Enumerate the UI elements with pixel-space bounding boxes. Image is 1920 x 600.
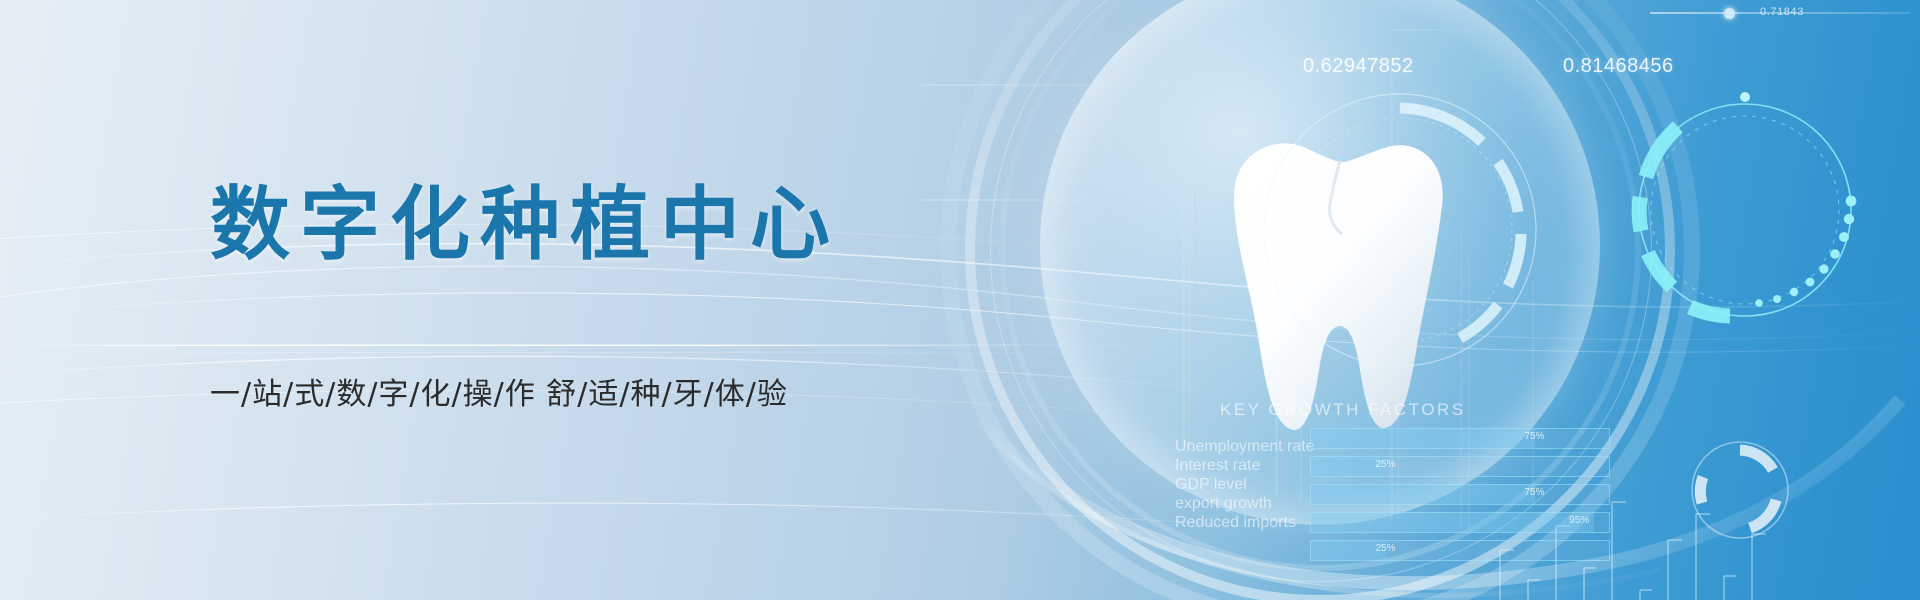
metric-left: 0.62947852: [1303, 55, 1414, 78]
page-title: 数字化种植中心: [210, 185, 970, 265]
progress-bar: 95%: [1310, 512, 1610, 533]
tech-graphic-panel: 0.62947852 0.81468456 0.71843 KEY GROWTH…: [920, 0, 1920, 600]
progress-label: 75%: [1524, 431, 1544, 442]
progress-bar: 75%: [1310, 428, 1610, 449]
progress-label: 25%: [1375, 459, 1395, 470]
metric-right: 0.81468456: [1563, 55, 1674, 78]
hud-slider[interactable]: 0.71843: [1650, 8, 1910, 18]
progress-label: 25%: [1375, 543, 1395, 554]
key-growth-factors-label: KEY GROWTH FACTORS: [1220, 400, 1466, 420]
progress-bar: 25%: [1310, 456, 1610, 477]
progress-label: 75%: [1524, 487, 1544, 498]
title-divider: [0, 345, 1030, 346]
progress-fill: [1311, 513, 1594, 532]
progress-fill: [1311, 429, 1535, 448]
progress-fill: [1311, 457, 1386, 476]
scan-ring-icon: [1250, 80, 1550, 380]
progress-bar: 25%: [1310, 540, 1610, 561]
growth-factor-bars: 75% 25% 75% 95% 25%: [1310, 428, 1610, 568]
slider-knob[interactable]: [1724, 8, 1735, 19]
slider-value: 0.71843: [1760, 6, 1804, 18]
dial-ring-icon: [1620, 85, 1870, 335]
progress-fill: [1311, 541, 1386, 560]
progress-fill: [1311, 485, 1535, 504]
banner-text-block: 数字化种植中心 一/站/式/数/字/化/操/作 舒/适/种/牙/体/验: [210, 185, 970, 265]
hero-banner: 数字化种植中心 一/站/式/数/字/化/操/作 舒/适/种/牙/体/验: [0, 0, 1920, 600]
progress-label: 95%: [1569, 515, 1589, 526]
progress-bar: 75%: [1310, 484, 1610, 505]
page-subtitle: 一/站/式/数/字/化/操/作 舒/适/种/牙/体/验: [210, 369, 788, 413]
